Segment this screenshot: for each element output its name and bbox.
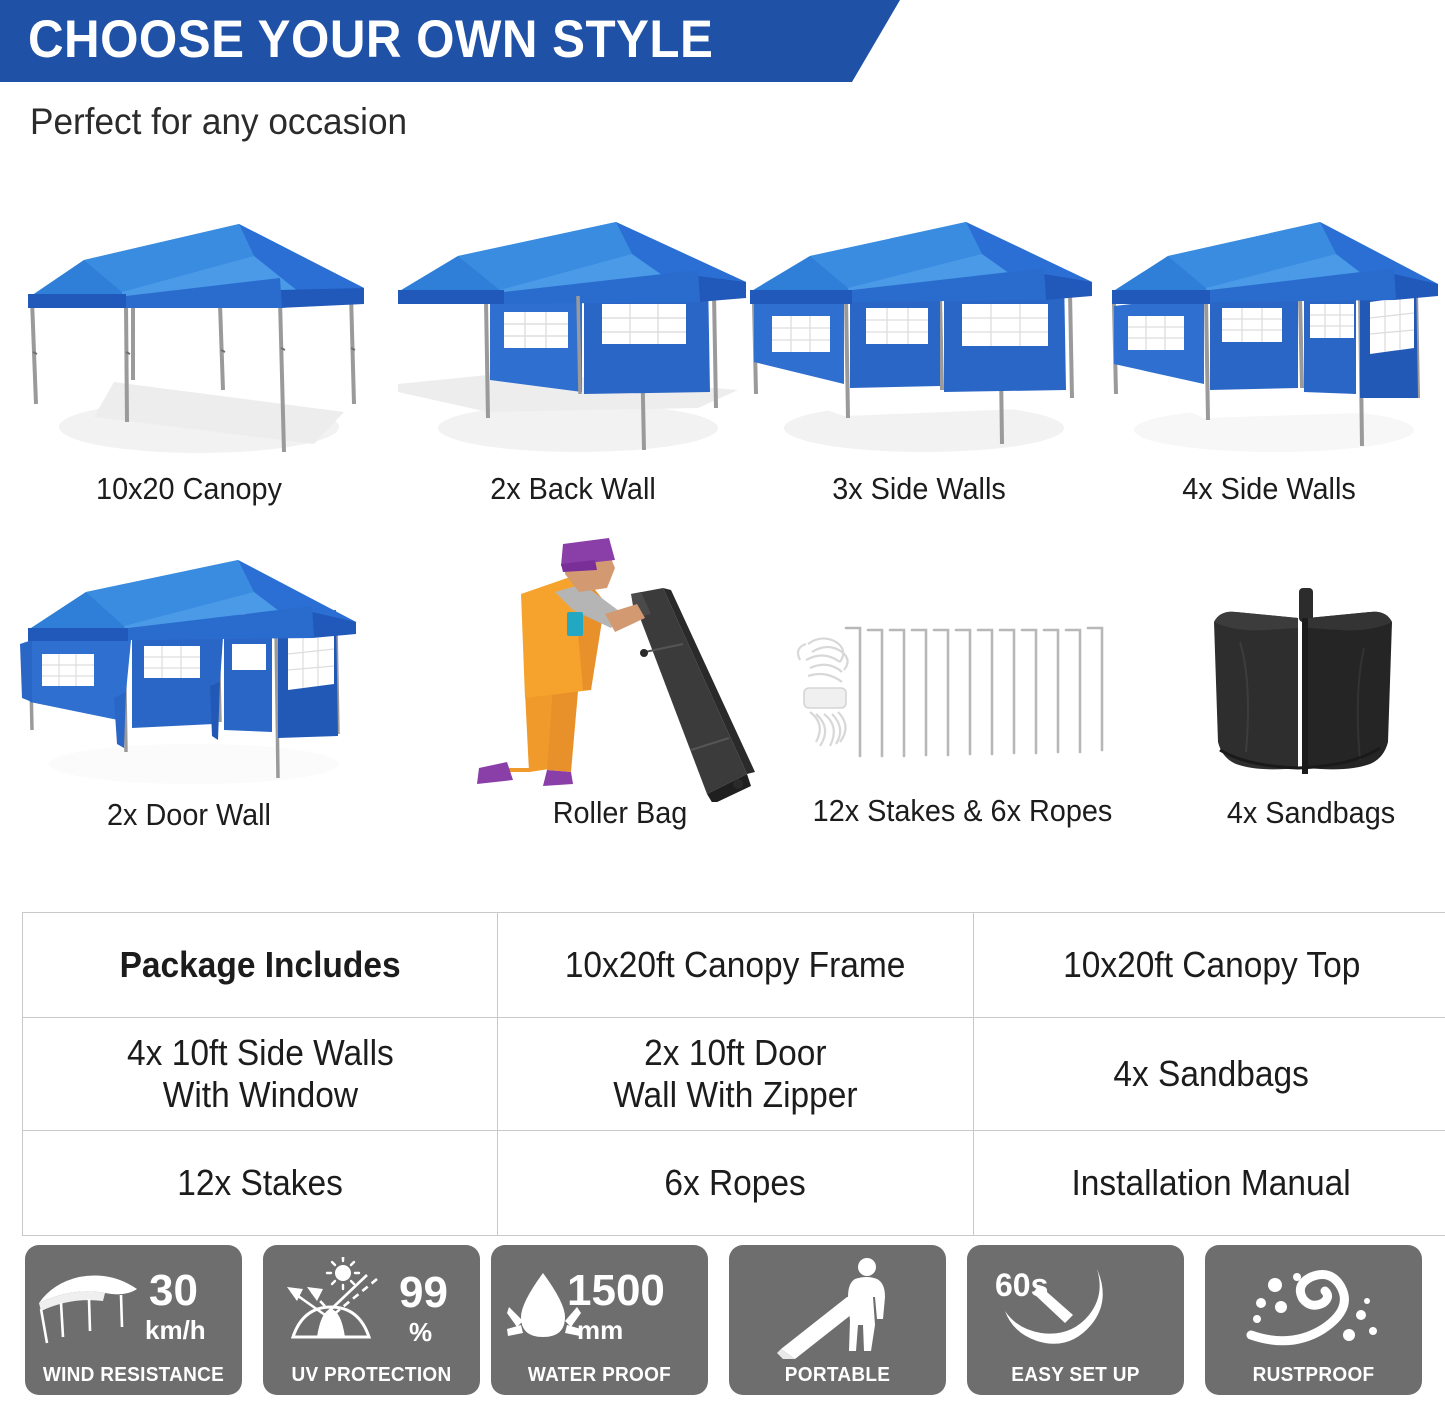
package-includes-table: Package Includes 10x20ft Canopy Frame 10… (22, 912, 1445, 1236)
table-cell: 6x Ropes (498, 1131, 974, 1236)
feature-label: RUSTPROOF (1210, 1364, 1416, 1387)
product-card-door-wall: 2x Door Wall (14, 552, 364, 852)
table-cell-text: 6x Ropes (665, 1162, 806, 1204)
product-caption: 4x Side Walls (1106, 470, 1432, 508)
feature-badge-portable: PORTABLE (729, 1245, 946, 1395)
table-cell-text: 10x20ft Canopy Frame (565, 944, 906, 986)
table-cell-text: 2x 10ft DoorWall With Zipper (613, 1032, 857, 1116)
table-cell: 2x 10ft DoorWall With Zipper (498, 1018, 974, 1131)
product-caption: 4x Sandbags (1189, 794, 1433, 832)
worker-pushing-roller-bag-illustration (455, 522, 785, 802)
feature-label: WATER PROOF (496, 1364, 702, 1387)
feature-value: 60s (995, 1269, 1048, 1301)
feature-badge-water-proof: 1500 mm WATER PROOF (491, 1245, 708, 1395)
stakes-and-ropes-illustration (790, 600, 1135, 780)
page-title: CHOOSE YOUR OWN STYLE (28, 8, 713, 72)
product-card-back-wall: 2x Back Wall (398, 212, 748, 522)
feature-value: 30 (149, 1269, 198, 1313)
product-card-canopy: 10x20 Canopy (14, 212, 364, 522)
product-caption: 2x Back Wall (410, 470, 736, 508)
sun-rays-icon (277, 1257, 385, 1349)
feature-unit: mm (577, 1317, 623, 1343)
canopy-wind-icon (33, 1269, 143, 1347)
feature-label: WIND RESISTANCE (30, 1364, 236, 1387)
feature-unit: % (409, 1319, 432, 1345)
sandbag-illustration (1180, 572, 1442, 792)
table-cell: 4x Sandbags (974, 1018, 1445, 1131)
table-cell: Package Includes (23, 913, 498, 1018)
feature-label: EASY SET UP (972, 1364, 1178, 1387)
canopy-four-side-walls-illustration (1094, 212, 1444, 462)
table-cell-text: 4x 10ft Side WallsWith Window (127, 1032, 394, 1116)
swirl-rust-icon (1241, 1263, 1387, 1351)
table-cell-text: Installation Manual (1072, 1162, 1351, 1204)
table-row: Package Includes 10x20ft Canopy Frame 10… (23, 913, 1445, 1018)
person-carrying-bag-icon (775, 1257, 901, 1361)
product-card-sandbags: 4x Sandbags (1180, 572, 1442, 852)
table-row: 4x 10ft Side WallsWith Window 2x 10ft Do… (23, 1018, 1445, 1131)
table-cell: 4x 10ft Side WallsWith Window (23, 1018, 498, 1131)
table-row: 12x Stakes 6x Ropes Installation Manual (23, 1131, 1445, 1236)
table-cell: 10x20ft Canopy Top (974, 913, 1445, 1018)
product-caption: 10x20 Canopy (26, 470, 352, 508)
feature-badge-wind-resistance: 30 km/h WIND RESISTANCE (25, 1245, 242, 1395)
product-card-roller-bag: Roller Bag (455, 522, 785, 852)
product-card-stakes-ropes: 12x Stakes & 6x Ropes (790, 600, 1135, 850)
table-cell-text: 4x Sandbags (1114, 1053, 1309, 1095)
feature-label: UV PROTECTION (268, 1364, 474, 1387)
canopy-three-side-walls-illustration (744, 212, 1094, 462)
page-subtitle: Perfect for any occasion (30, 98, 407, 146)
feature-badge-rustproof: RUSTPROOF (1205, 1245, 1422, 1395)
canopy-back-wall-illustration (398, 212, 748, 462)
canopy-no-walls-illustration (14, 212, 364, 462)
table-cell: 10x20ft Canopy Frame (498, 913, 974, 1018)
table-cell-text: Package Includes (119, 944, 400, 986)
product-card-three-side-walls: 3x Side Walls (744, 212, 1094, 522)
feature-unit: km/h (145, 1317, 206, 1343)
feature-value: 99 (399, 1271, 448, 1315)
table-cell: Installation Manual (974, 1131, 1445, 1236)
table-cell: 12x Stakes (23, 1131, 498, 1236)
feature-badges: 30 km/h WIND RESISTANCE (25, 1245, 1425, 1395)
header-banner: CHOOSE YOUR OWN STYLE (0, 0, 1445, 82)
product-caption: 3x Side Walls (756, 470, 1082, 508)
feature-value: 1500 (567, 1269, 665, 1313)
feature-badge-uv-protection: 99 % UV PROTECTION (263, 1245, 480, 1395)
canopy-door-wall-illustration (14, 552, 364, 792)
product-caption: Roller Bag (467, 794, 774, 832)
product-caption: 2x Door Wall (26, 796, 352, 834)
table-cell-text: 12x Stakes (177, 1162, 343, 1204)
product-caption: 12x Stakes & 6x Ropes (802, 792, 1123, 830)
feature-label: PORTABLE (734, 1364, 940, 1387)
table-cell-text: 10x20ft Canopy Top (1063, 944, 1360, 986)
product-card-four-side-walls: 4x Side Walls (1094, 212, 1444, 522)
feature-badge-easy-set-up: 60s EASY SET UP (967, 1245, 1184, 1395)
